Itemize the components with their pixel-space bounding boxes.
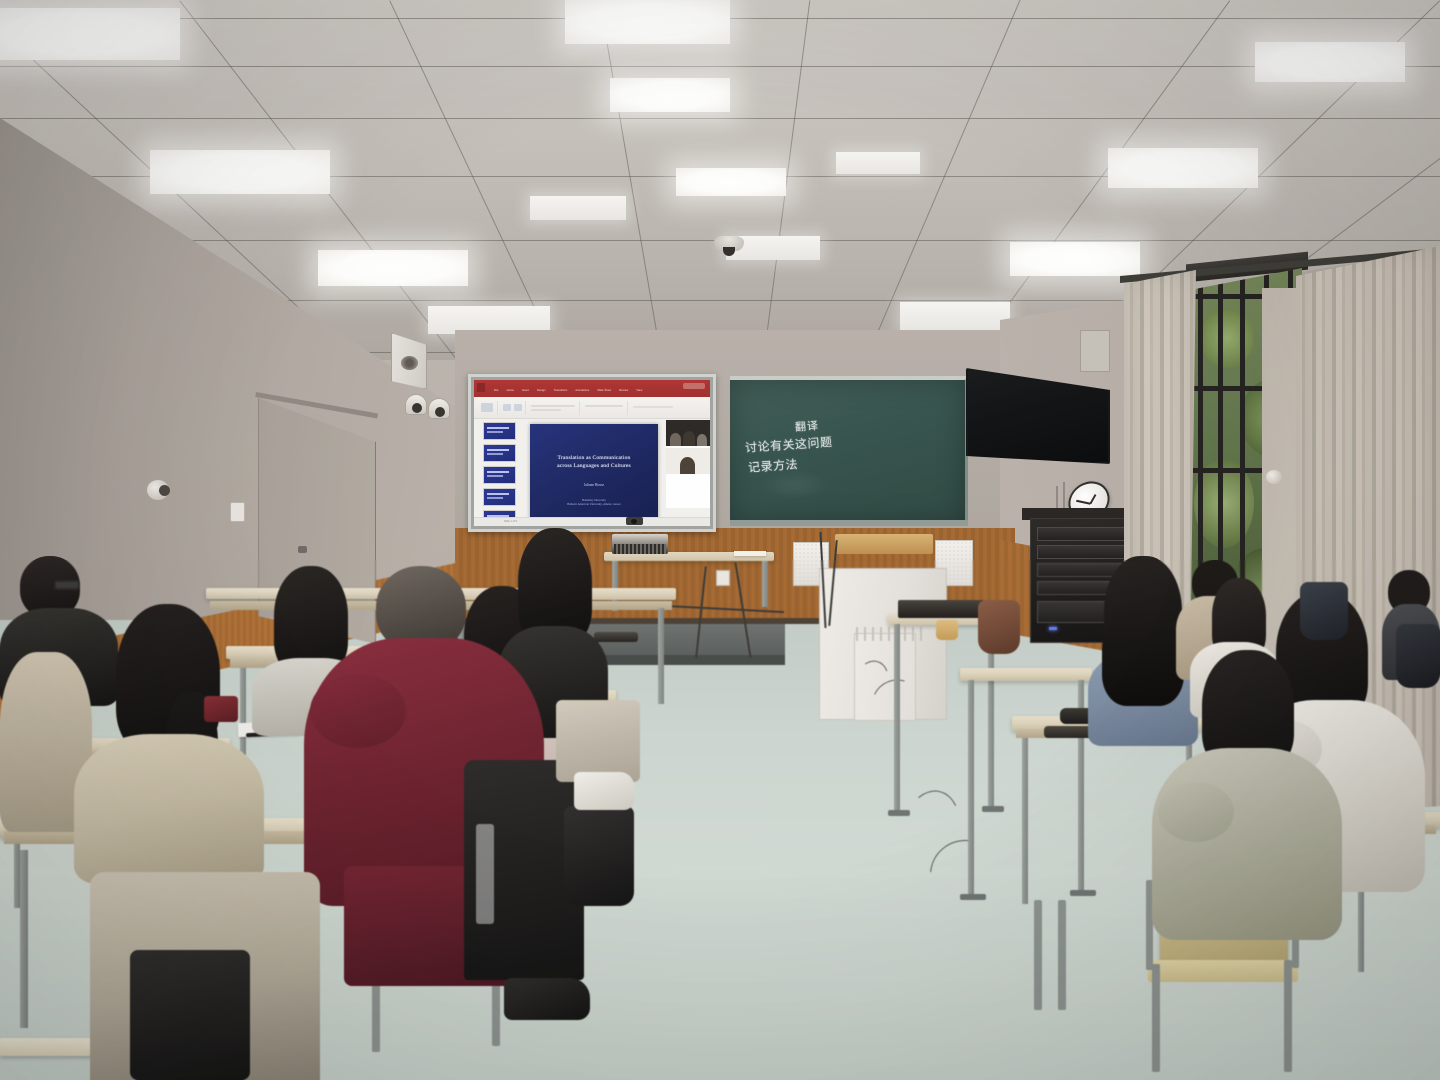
spot-camera-right: [428, 398, 450, 419]
classroom-photo: File Home Insert Design Transitions Anim…: [0, 0, 1440, 1080]
ribbon-tab[interactable]: Insert: [522, 389, 529, 392]
powerpoint-ribbon[interactable]: File Home Insert Design Transitions Anim…: [474, 380, 710, 397]
ribbon-tab-row[interactable]: File Home Insert Design Transitions Anim…: [494, 389, 642, 392]
student-grey-hoodie: [1152, 650, 1342, 940]
slide-thumbnail[interactable]: [483, 466, 516, 484]
handbag[interactable]: [978, 600, 1020, 654]
shoe: [574, 772, 634, 810]
ceiling-light-panel: [1108, 148, 1258, 188]
ceiling-grid-line: [0, 118, 1440, 119]
chalk-smudge: [760, 470, 830, 500]
student-foreground-legs: [130, 950, 250, 1080]
ceiling-grid-line: [0, 66, 1440, 67]
backpack[interactable]: [1300, 582, 1348, 640]
ceiling-light-panel: [530, 196, 626, 220]
chair-leg: [1284, 960, 1292, 1072]
ceiling-light-panel: [0, 8, 180, 60]
ceiling-light-panel: [318, 250, 468, 286]
ceiling-light-panel: [836, 152, 920, 174]
slide-thumbnail[interactable]: [483, 488, 516, 506]
video-call-panel[interactable]: [666, 420, 710, 508]
left-door-handle[interactable]: [298, 546, 307, 553]
student-beige-ponytail: [74, 604, 264, 884]
spot-camera-left: [405, 394, 427, 415]
ribbon-tab[interactable]: Review: [619, 389, 628, 392]
ceiling-light-panel: [610, 78, 730, 112]
ceiling-light-panel: [150, 150, 330, 194]
video-tile-remote-room[interactable]: [666, 420, 710, 446]
powerpoint-toolbar[interactable]: [474, 397, 710, 419]
projector-vent: [614, 544, 666, 554]
trouser-stripe: [476, 824, 494, 924]
slide-thumbnail[interactable]: [483, 444, 516, 462]
chair-leg: [1152, 964, 1160, 1072]
wall-mounted-knob: [147, 480, 169, 500]
podium-wood-top: [835, 534, 933, 554]
red-item-on-shoulder: [204, 696, 238, 722]
shoe: [504, 978, 590, 1020]
student-legs-centre: [556, 700, 640, 810]
current-slide[interactable]: Translation as Communication across Lang…: [530, 424, 658, 522]
camera-on-shelf-icon: [626, 517, 643, 525]
slide-title: Translation as Communication across Lang…: [538, 454, 650, 470]
ribbon-tab[interactable]: Transitions: [554, 389, 568, 392]
video-tile-remote-single[interactable]: [666, 448, 710, 474]
powerpoint-logo-icon: [477, 383, 485, 392]
tv-wall-bracket: [1080, 330, 1110, 372]
projection-screen[interactable]: File Home Insert Design Transitions Anim…: [468, 374, 716, 532]
right-door-knob[interactable]: [1266, 470, 1282, 484]
wall-outlet[interactable]: [716, 570, 730, 586]
slide-thumbnail-panel[interactable]: [477, 422, 521, 508]
light-switch[interactable]: [230, 502, 245, 522]
powerpoint-status-bar: Slide 1 of 5: [474, 517, 710, 526]
papers-on-av-table: [734, 551, 766, 556]
ceiling-light-panel: [900, 302, 1010, 330]
chalk-text-line-2: 记录方法: [747, 455, 798, 475]
dome-camera-icon: [714, 236, 744, 251]
ribbon-tab[interactable]: Slide Show: [597, 389, 611, 392]
ribbon-tab[interactable]: Design: [537, 389, 546, 392]
chair-seat-right[interactable]: [1148, 960, 1298, 982]
slide-author: Juliane House: [538, 483, 650, 488]
slide-counter: Slide 1 of 5: [504, 520, 517, 523]
keyboard-on-desk[interactable]: [898, 600, 986, 618]
coffee-cup[interactable]: [936, 620, 958, 640]
backpack[interactable]: [1396, 624, 1440, 688]
ribbon-tab[interactable]: View: [636, 389, 642, 392]
ceiling-light-panel: [1255, 42, 1405, 82]
backpack-on-chair[interactable]: [564, 806, 634, 906]
slide-affiliation: Hamburg University Hellenic American Uni…: [536, 498, 652, 506]
ribbon-tab[interactable]: Home: [507, 389, 514, 392]
ribbon-tab[interactable]: Animations: [575, 389, 589, 392]
ribbon-tab[interactable]: File: [494, 389, 499, 392]
power-led-icon: [1049, 627, 1057, 630]
chair-right-aisle[interactable]: [1034, 900, 1068, 1010]
chalk-text-top: 翻译: [794, 417, 819, 435]
chalk-tray: [730, 520, 968, 526]
ceiling-light-panel: [1010, 242, 1140, 276]
account-chip[interactable]: [683, 383, 705, 389]
slide-thumbnail[interactable]: [483, 422, 516, 440]
ceiling-light-panel: [676, 168, 786, 196]
glasses-icon: [54, 580, 80, 590]
ceiling-light-panel: [565, 0, 730, 44]
